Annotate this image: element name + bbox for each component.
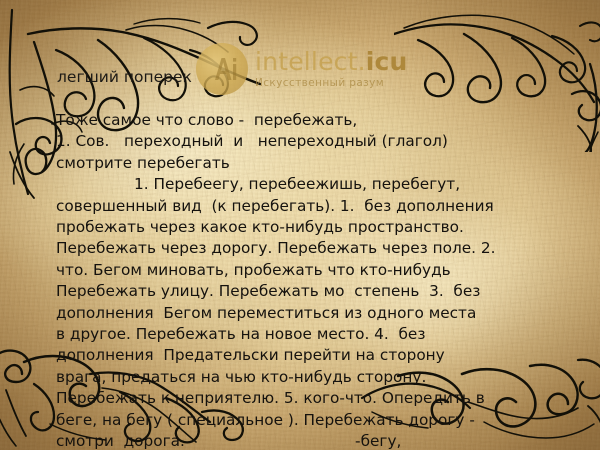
body-line: 1. Сов. переходный и непереходный (глаго…: [56, 131, 562, 152]
body-line: дополнения Бегом переместиться из одного…: [56, 303, 562, 324]
body-line: смотри дорога. -бегу,: [56, 431, 562, 450]
body-line: смотрите перебегать: [56, 153, 562, 174]
body-line: врага, предаться на чью кто-нибудь сторо…: [56, 367, 562, 388]
body-line: Тоже самое что слово - перебежать,: [56, 110, 562, 131]
slide-canvas: intellect.icu Искусственный разум легший…: [0, 0, 600, 450]
header-line: легший поперек: [57, 68, 192, 86]
body-line: беге, на бегу ( специальное ). Перебежат…: [56, 410, 562, 431]
body-line: 1. Перебеегу, перебеежишь, перебегут,: [56, 174, 562, 195]
body-line: Перебежать через дорогу. Перебежать чере…: [56, 238, 562, 259]
dictionary-body-text: Тоже самое что слово - перебежать,1. Сов…: [56, 110, 562, 450]
body-line: что. Бегом миновать, пробежать что кто-н…: [56, 260, 562, 281]
body-line: совершенный вид (к перебегать). 1. без д…: [56, 196, 562, 217]
body-line: пробежать через какое кто-нибудь простра…: [56, 217, 562, 238]
body-line: в другое. Перебежать на новое место. 4. …: [56, 324, 562, 345]
body-line: Перебежать к неприятелю. 5. кого-что. Оп…: [56, 388, 562, 409]
body-line: дополнения Предательски перейти на сторо…: [56, 345, 562, 366]
slide-content: легший поперек Тоже самое что слово - пе…: [0, 0, 600, 450]
body-line: Перебежать улицу. Перебежать мо степень …: [56, 281, 562, 302]
